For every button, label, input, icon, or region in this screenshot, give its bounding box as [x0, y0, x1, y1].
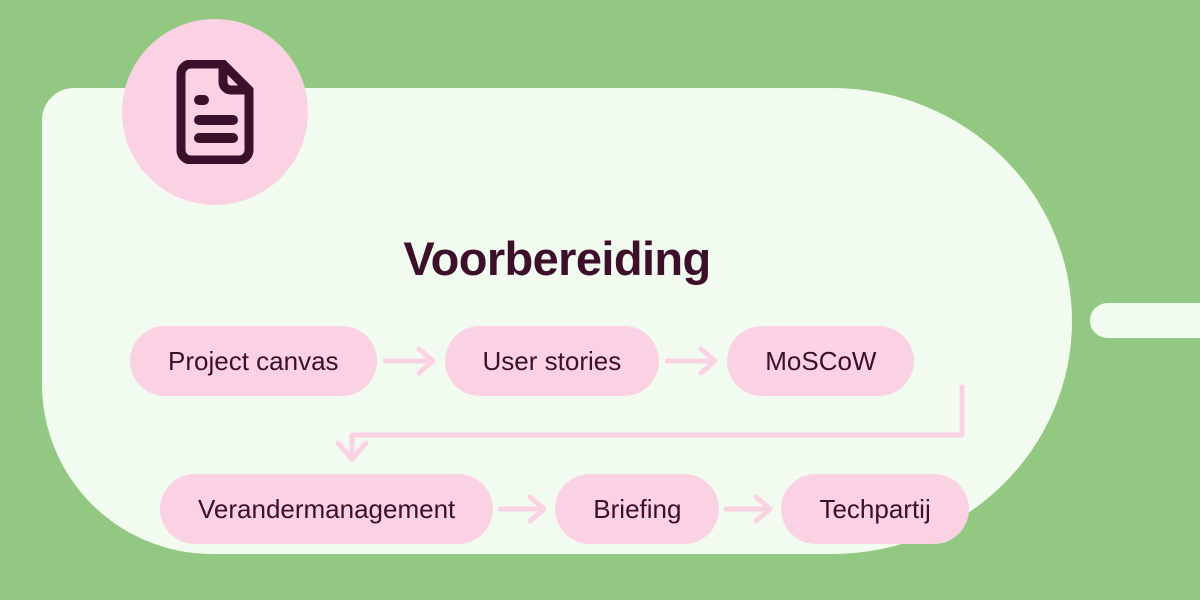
flow-row-2: Verandermanagement Briefing Techpartij [160, 474, 969, 544]
arrow-right-icon [493, 474, 555, 544]
flow-step-project-canvas[interactable]: Project canvas [130, 326, 377, 396]
right-edge-tab [1090, 303, 1200, 338]
infographic-canvas: Voorbereiding Project canvas User storie… [0, 0, 1200, 600]
arrow-right-icon [377, 326, 445, 396]
avatar [122, 19, 308, 205]
flow-step-briefing[interactable]: Briefing [555, 474, 719, 544]
page-title: Voorbereiding [42, 231, 1072, 286]
flow-row-1: Project canvas User stories MoSCoW [130, 326, 914, 396]
arrow-right-icon [659, 326, 727, 396]
document-icon [171, 60, 259, 164]
flow-step-verandermanagement[interactable]: Verandermanagement [160, 474, 493, 544]
arrow-right-icon [719, 474, 781, 544]
flow-step-user-stories[interactable]: User stories [445, 326, 660, 396]
flow-step-techpartij[interactable]: Techpartij [781, 474, 968, 544]
flow-step-moscow[interactable]: MoSCoW [727, 326, 914, 396]
